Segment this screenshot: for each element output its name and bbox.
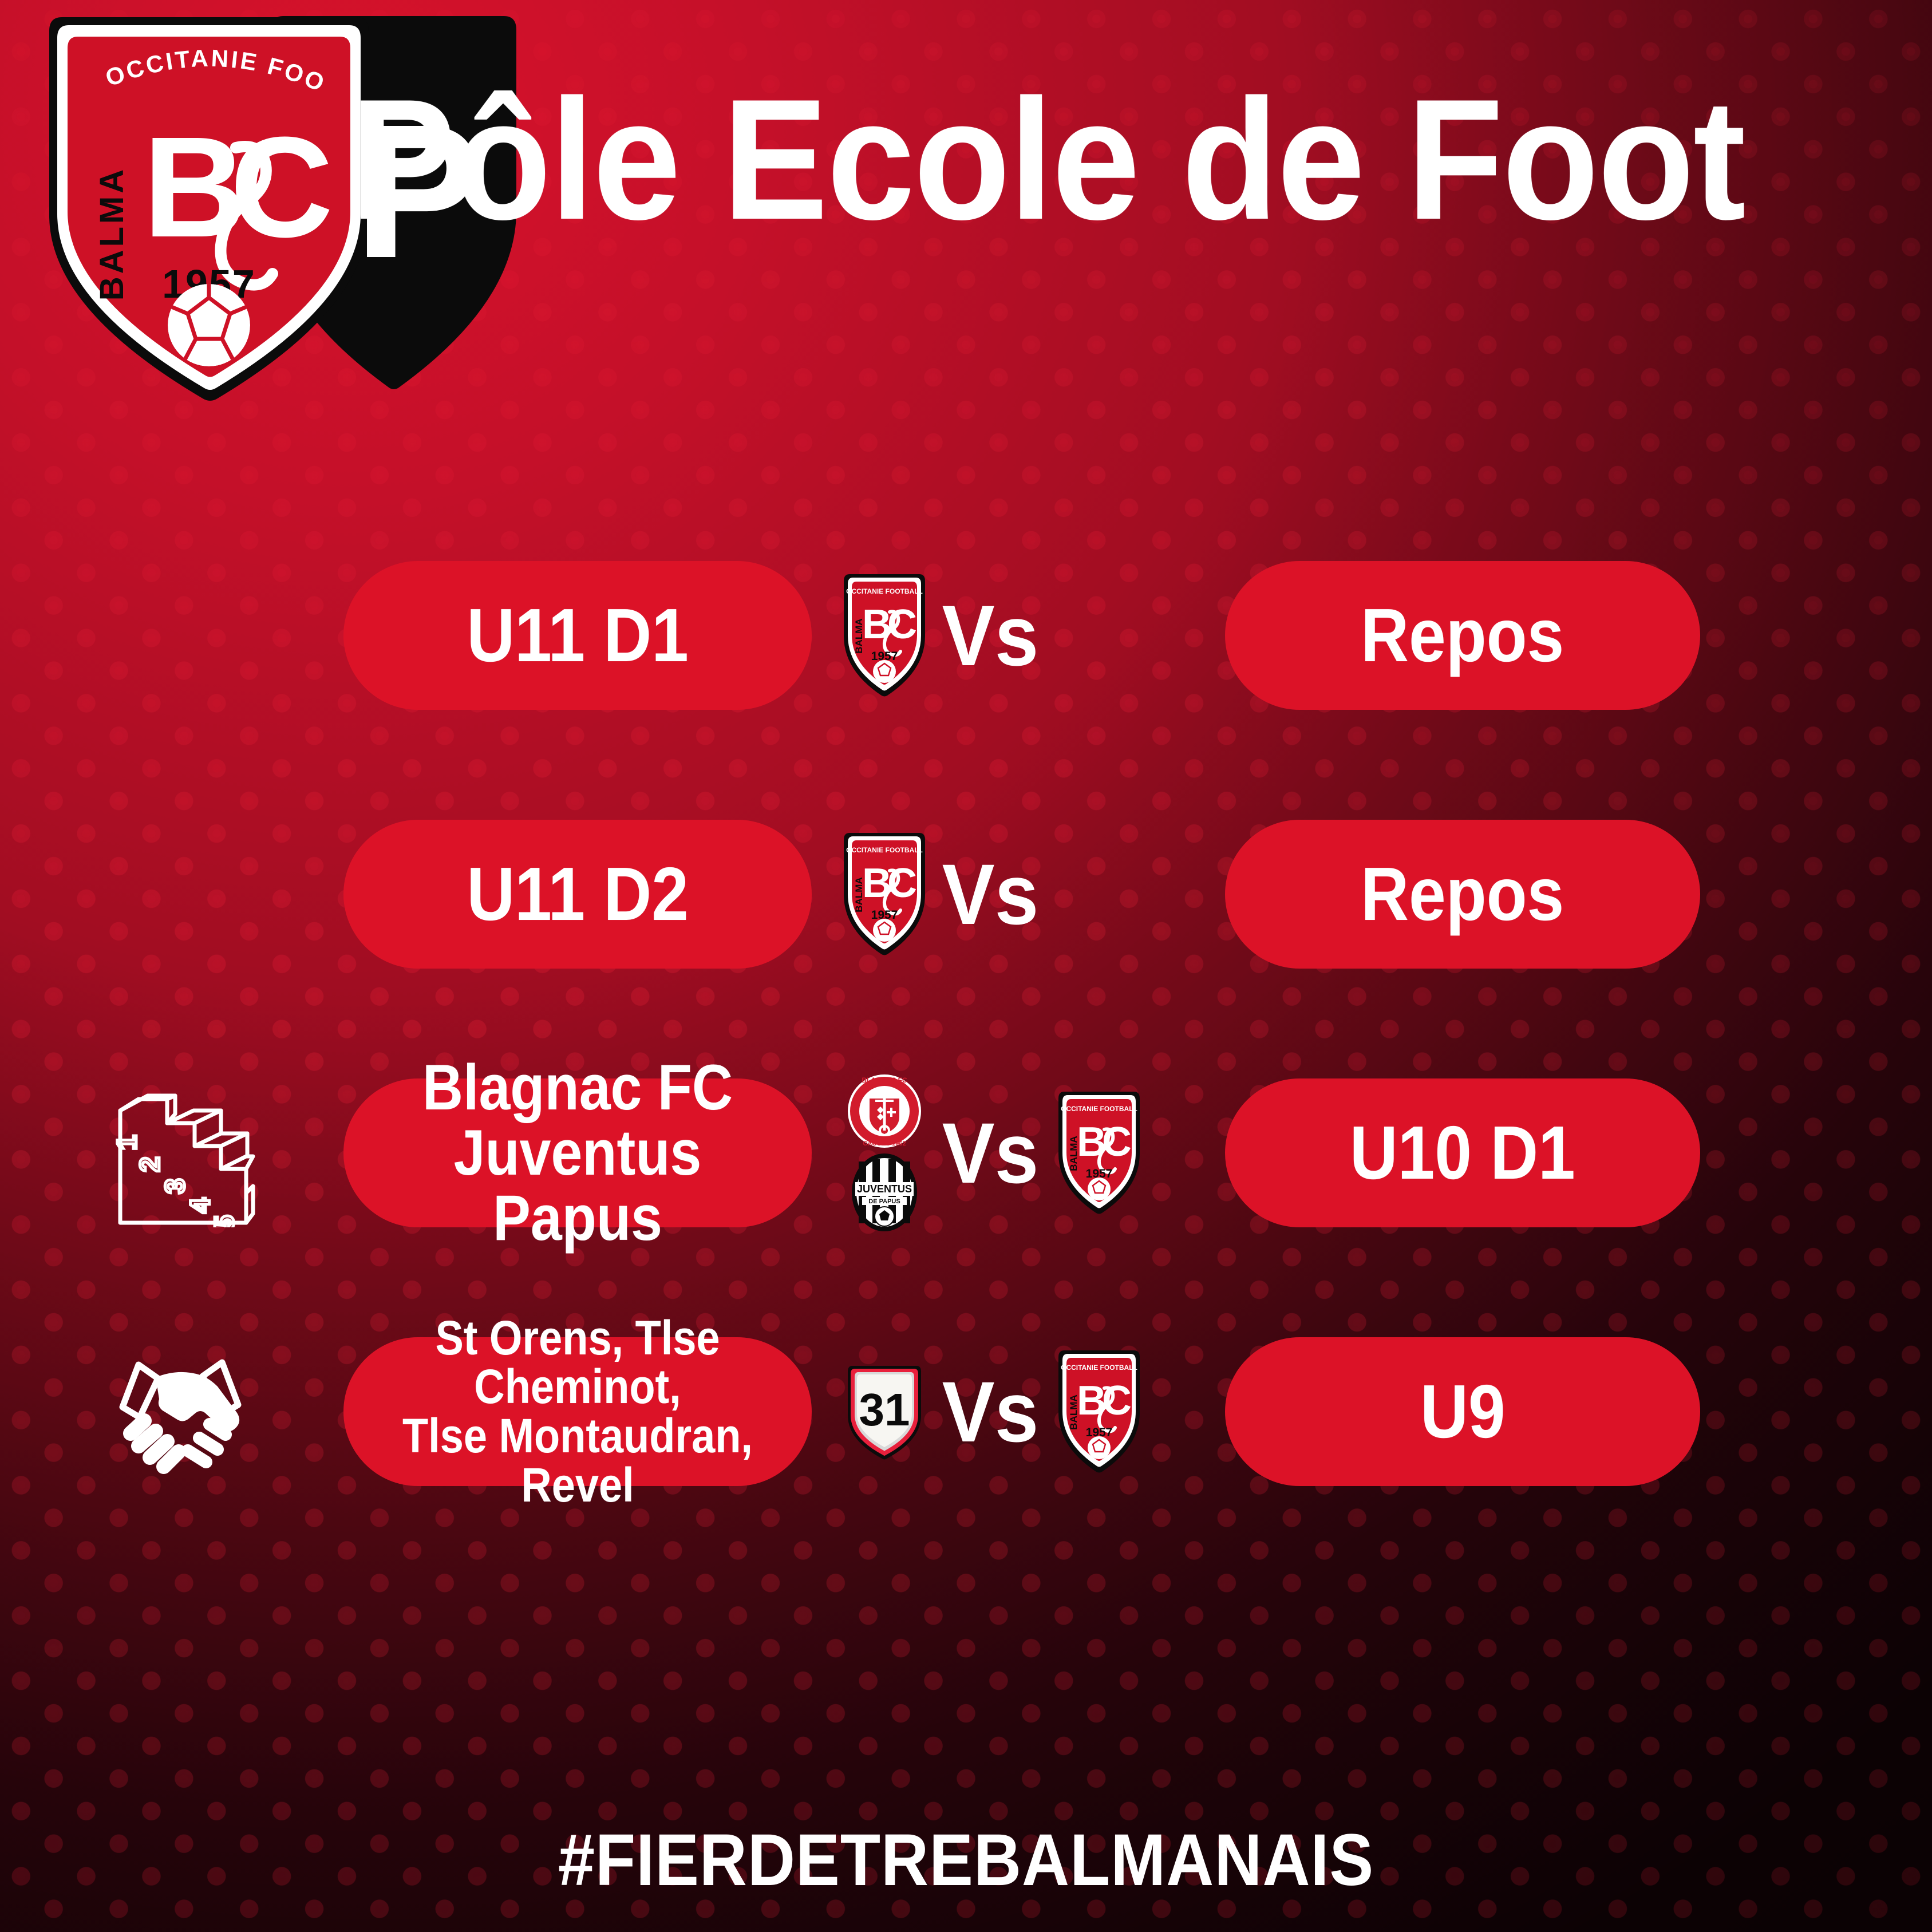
handshake-icon bbox=[103, 1337, 258, 1486]
fixture-row: St Orens, Tlse Cheminot, Tlse Montaudran… bbox=[0, 1326, 1932, 1498]
fixture-left-label: St Orens, Tlse Cheminot, Tlse Montaudran… bbox=[392, 1314, 763, 1510]
svg-text:C: C bbox=[1102, 1378, 1132, 1424]
fixture-right-pill[interactable]: U9 bbox=[1225, 1337, 1700, 1486]
district-31-badge-icon: 31 bbox=[846, 1360, 923, 1463]
versus-label: Vs bbox=[941, 851, 1041, 937]
bsc-badge-icon: OCCITANIE FOOTBALL BALMA B C 1957 bbox=[841, 828, 927, 960]
fixture-versus-group: OCCITANIE FOOTBALL BALMA B C 1957 Vs bbox=[833, 558, 1199, 713]
home-badge-stack: 31 bbox=[833, 1334, 936, 1489]
svg-text:OCCITANIE FOOTBALL: OCCITANIE FOOTBALL bbox=[846, 846, 923, 854]
fixture-versus-group: OCCITANIE FOOTBALL BALMA B C 1957 Vs bbox=[833, 817, 1199, 971]
fixture-left-pill[interactable]: U11 D2 bbox=[343, 820, 812, 969]
fixture-left-label: U11 D1 bbox=[467, 597, 688, 674]
versus-label: Vs bbox=[941, 1110, 1041, 1196]
versus-label: Vs bbox=[941, 1369, 1041, 1455]
svg-text:OCCITANIE FOOTBALL: OCCITANIE FOOTBALL bbox=[1061, 1364, 1137, 1372]
svg-text:2: 2 bbox=[135, 1157, 165, 1172]
svg-text:C: C bbox=[887, 860, 917, 906]
fixture-right-label: Repos bbox=[1361, 856, 1564, 933]
fixture-row: 1 2 3 4 5 Blagnac FC Juventus Papus bbox=[0, 1067, 1932, 1239]
fixture-right-pill[interactable]: Repos bbox=[1225, 820, 1700, 969]
svg-text:JUVENTUS: JUVENTUS bbox=[857, 1183, 912, 1195]
fixture-left-pill[interactable]: U11 D1 bbox=[343, 561, 812, 710]
versus-label: Vs bbox=[941, 592, 1041, 678]
fixture-left-label: Blagnac FC Juventus Papus bbox=[392, 1055, 763, 1251]
svg-text:3: 3 bbox=[160, 1179, 191, 1194]
svg-text:CAOUEC 1962: CAOUEC 1962 bbox=[863, 1140, 906, 1147]
svg-text:1: 1 bbox=[112, 1135, 143, 1151]
fixture-right-pill[interactable]: Repos bbox=[1225, 561, 1700, 710]
svg-text:C: C bbox=[887, 602, 917, 647]
bsc-badge-icon: OCCITANIE FOOTBALL BALMA B C 1957 bbox=[1045, 1076, 1153, 1230]
svg-text:OCCITANIE FOOTBALL: OCCITANIE FOOTBALL bbox=[846, 587, 923, 595]
fixture-right-label: U10 D1 bbox=[1350, 1115, 1575, 1192]
blagnac-fc-badge-icon: BLAGNAC FC CAOUEC 1962 bbox=[847, 1073, 922, 1149]
home-badge-stack: OCCITANIE FOOTBALL BALMA B C 1957 bbox=[833, 558, 936, 713]
podium-stairs-icon: 1 2 3 4 5 bbox=[103, 1078, 258, 1227]
fixture-row: U11 D2 OCCITANIE FOOTBALL BALMA B C bbox=[0, 808, 1932, 980]
hashtag-footer: #FIERDETREBALMANAIS bbox=[97, 1818, 1836, 1902]
juventus-papus-badge-icon: JUVENTUS DE PAPUS bbox=[851, 1152, 918, 1232]
svg-text:C: C bbox=[230, 107, 334, 267]
home-badge-stack: OCCITANIE FOOTBALL BALMA B C 1957 bbox=[833, 817, 936, 971]
fixtures-list: U11 D1 OCCITANIE FOOTBALL BALMA B C bbox=[0, 550, 1932, 1498]
fixture-left-label: U11 D2 bbox=[467, 856, 688, 933]
svg-text:BALMA: BALMA bbox=[93, 167, 131, 301]
fixture-left-pill[interactable]: Blagnac FC Juventus Papus bbox=[343, 1078, 812, 1227]
fixture-right-pill[interactable]: U10 D1 bbox=[1225, 1078, 1700, 1227]
svg-text:C: C bbox=[1102, 1119, 1132, 1165]
home-badge-stack: BLAGNAC FC CAOUEC 1962 bbox=[833, 1076, 936, 1230]
svg-text:4: 4 bbox=[185, 1198, 216, 1213]
svg-text:31: 31 bbox=[859, 1384, 910, 1435]
svg-text:5: 5 bbox=[210, 1215, 240, 1227]
page-title: Pôle Ecole de Foot bbox=[350, 73, 1745, 245]
fixture-right-label: U9 bbox=[1420, 1373, 1506, 1451]
fixture-poster: OCCITANIE FOOTBALL BALMA B C 1957 P bbox=[0, 0, 1932, 1932]
bsc-badge-icon: OCCITANIE FOOTBALL BALMA B C 1957 bbox=[841, 570, 927, 701]
poster-header: OCCITANIE FOOTBALL BALMA B C 1957 P bbox=[0, 0, 1932, 435]
svg-text:OCCITANIE FOOTBALL: OCCITANIE FOOTBALL bbox=[1061, 1105, 1137, 1113]
svg-text:DE PAPUS: DE PAPUS bbox=[868, 1198, 900, 1205]
fixture-row: U11 D1 OCCITANIE FOOTBALL BALMA B C bbox=[0, 550, 1932, 721]
fixture-left-pill[interactable]: St Orens, Tlse Cheminot, Tlse Montaudran… bbox=[343, 1337, 812, 1486]
fixture-versus-group: 31 Vs OCCITANIE FOOTBALL BALMA B C bbox=[833, 1334, 1199, 1489]
fixture-versus-group: BLAGNAC FC CAOUEC 1962 bbox=[833, 1076, 1199, 1230]
svg-text:BLAGNAC FC: BLAGNAC FC bbox=[862, 1076, 907, 1084]
fixture-right-label: Repos bbox=[1361, 597, 1564, 674]
bsc-badge-icon: OCCITANIE FOOTBALL BALMA B C 1957 bbox=[1045, 1334, 1153, 1489]
